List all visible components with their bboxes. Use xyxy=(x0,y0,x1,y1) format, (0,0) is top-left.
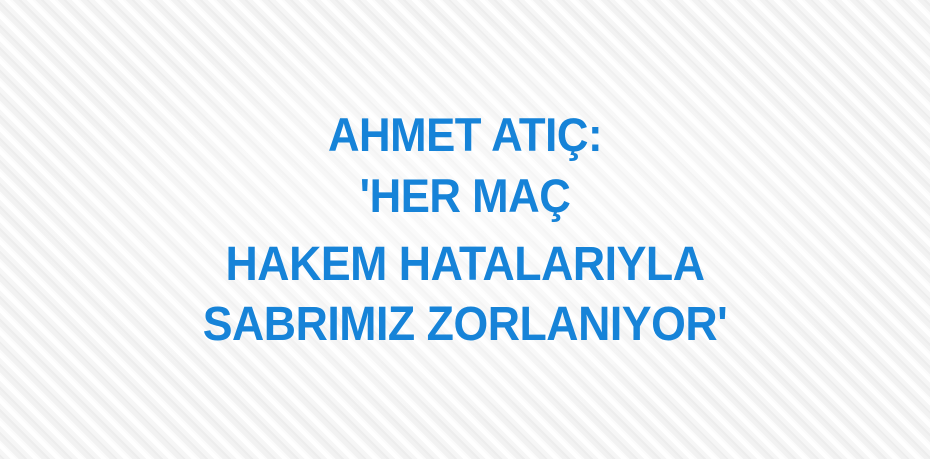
headline-line-4: SABRIMIZ ZORLANIYOR' xyxy=(33,301,898,349)
headline-block-quote: HAKEM HATALARIYLA SABRIMIZ ZORLANIYOR' xyxy=(0,241,930,349)
headline-line-2: 'HER MAÇ xyxy=(33,172,898,219)
headline-line-3: HAKEM HATALARIYLA xyxy=(33,241,898,289)
headline-text-container: AHMET ATIÇ: 'HER MAÇ HAKEM HATALARIYLA S… xyxy=(0,111,930,349)
news-headline-card: AHMET ATIÇ: 'HER MAÇ HAKEM HATALARIYLA S… xyxy=(0,0,930,459)
headline-block-attribution: AHMET ATIÇ: 'HER MAÇ xyxy=(0,111,930,219)
headline-line-1: AHMET ATIÇ: xyxy=(33,111,898,158)
